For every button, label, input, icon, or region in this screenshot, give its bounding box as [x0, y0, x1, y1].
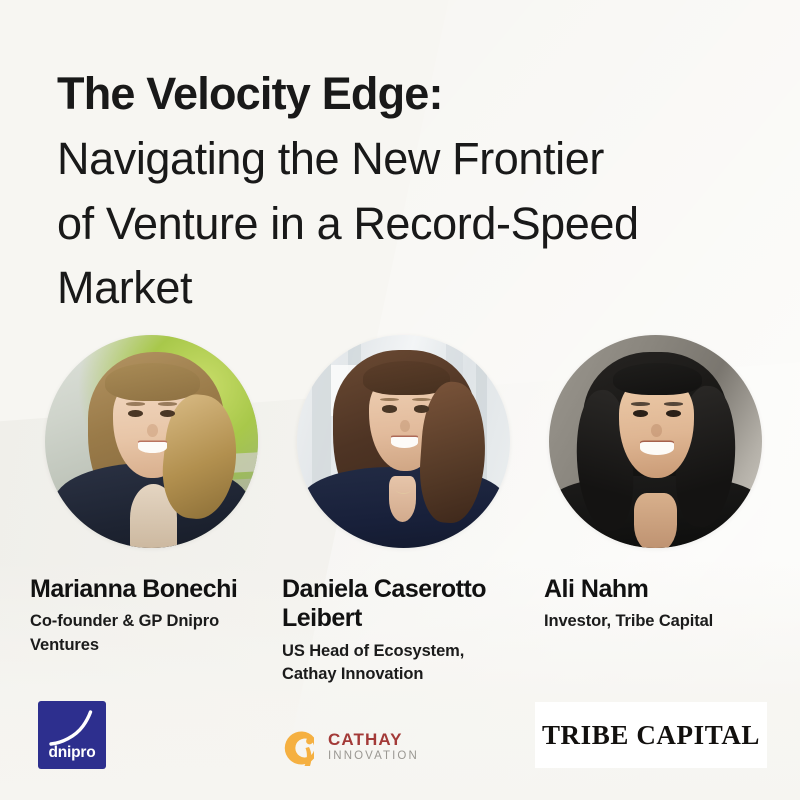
speaker-name-2: Daniela Caserotto Leibert [282, 575, 544, 634]
speaker-role-2: US Head of Ecosystem, Cathay Innovation [282, 640, 522, 688]
speaker-card-1: Marianna Bonechi Co-founder & GP Dnipro … [22, 335, 274, 658]
cathay-subtitle: INNOVATION [328, 751, 419, 763]
cathay-name: CATHAY [328, 731, 419, 748]
cathay-innovation-logo: CATHAY INNOVATION [276, 724, 452, 772]
speaker-card-2: Daniela Caserotto Leibert US Head of Eco… [274, 335, 526, 687]
dnipro-logo: dnipro [38, 701, 106, 769]
dnipro-wordmark: dnipro [38, 744, 106, 762]
speaker-card-3: Ali Nahm Investor, Tribe Capital [526, 335, 778, 634]
tribe-capital-wordmark: TRIBE CAPITAL [542, 720, 760, 751]
dnipro-swoosh-icon [49, 710, 95, 747]
speaker-list: Marianna Bonechi Co-founder & GP Dnipro … [0, 0, 800, 800]
tribe-capital-logo: TRIBE CAPITAL [535, 702, 767, 768]
speaker-photo-ali-nahm [549, 335, 762, 548]
speaker-name-1: Marianna Bonechi [30, 575, 290, 604]
cathay-c-mark-icon [276, 726, 322, 770]
event-poster: The Velocity Edge: Navigating the New Fr… [0, 0, 800, 800]
speaker-photo-daniela-caserotto-leibert [297, 335, 510, 548]
speaker-role-1: Co-founder & GP Dnipro Ventures [30, 610, 262, 658]
speaker-name-3: Ali Nahm [544, 575, 784, 604]
speaker-role-3: Investor, Tribe Capital [544, 610, 774, 634]
speaker-photo-marianna-bonechi [45, 335, 258, 548]
